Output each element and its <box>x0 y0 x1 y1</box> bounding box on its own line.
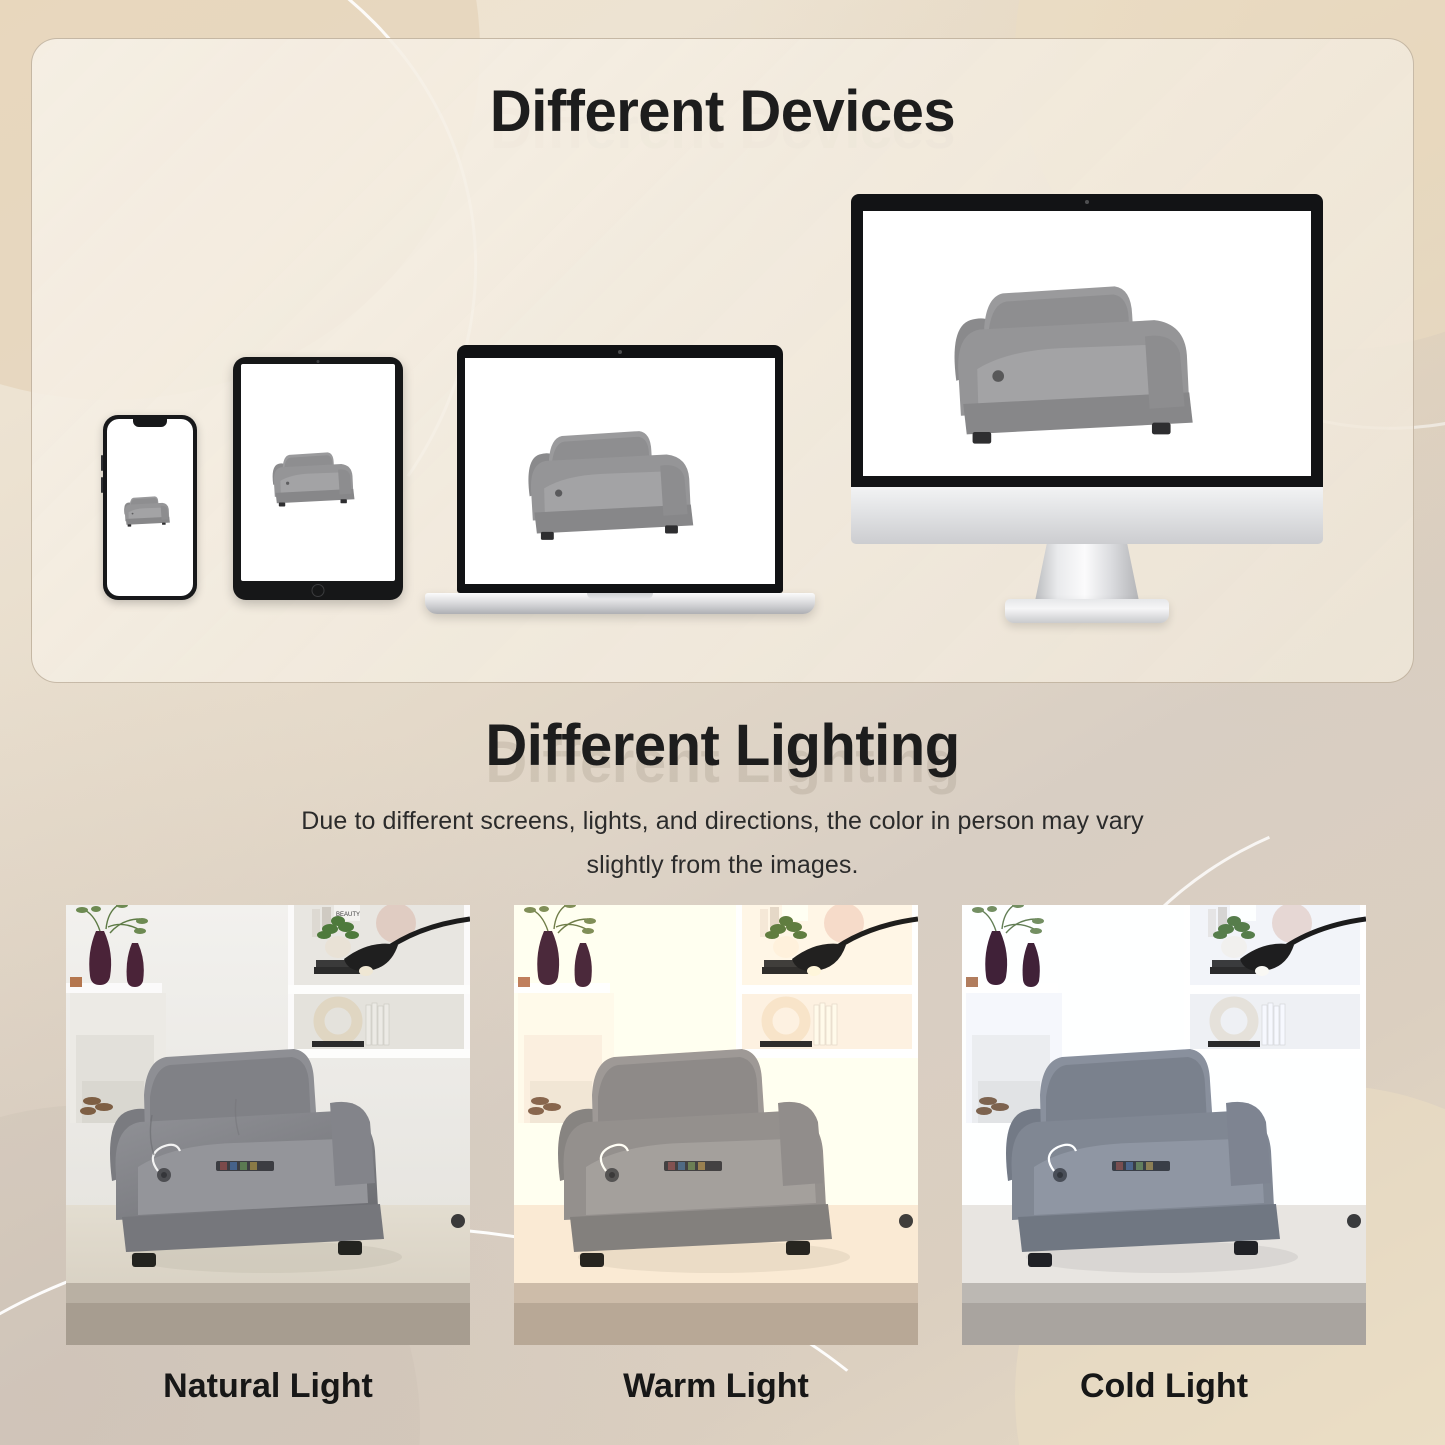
phone-notch <box>133 419 167 427</box>
disclaimer-line-1: Due to different screens, lights, and di… <box>0 800 1445 844</box>
tablet-home-button[interactable] <box>312 584 325 597</box>
lighting-samples: BEAUTY <box>66 905 1383 1345</box>
laptop-lid <box>457 345 783 593</box>
room-scene-cold <box>962 905 1366 1345</box>
caption-warm-light: Warm Light <box>514 1367 918 1406</box>
phone-volume-button <box>101 455 103 471</box>
room-scene-warm <box>514 905 918 1345</box>
laptop-screen <box>465 358 775 584</box>
room-scene-natural: BEAUTY <box>66 905 470 1345</box>
mockup-tablet <box>233 357 403 600</box>
caption-natural-light: Natural Light <box>66 1367 470 1406</box>
tablet-product-image <box>241 364 395 581</box>
tablet-camera-icon <box>317 360 320 363</box>
phone-volume-button-2 <box>101 477 103 493</box>
tablet-screen <box>241 364 395 581</box>
lighting-heading: Different Lighting Different Lighting <box>0 712 1445 779</box>
phone-product-image <box>107 419 193 596</box>
laptop-product-image <box>465 358 775 584</box>
disclaimer-line-2: slightly from the images. <box>0 844 1445 888</box>
monitor-stand-neck <box>1034 544 1140 606</box>
laptop-base <box>425 593 815 614</box>
laptop-trackpad-notch <box>587 593 653 599</box>
monitor-stand-base <box>1005 599 1169 623</box>
phone-screen <box>107 419 193 596</box>
monitor-product-image <box>863 211 1311 476</box>
mockup-monitor <box>851 194 1323 638</box>
lighting-sample-cold <box>962 905 1366 1345</box>
caption-cold-light: Cold Light <box>962 1367 1366 1406</box>
monitor-bezel <box>851 194 1323 487</box>
mockup-phone <box>103 415 197 600</box>
laptop-camera-icon <box>618 350 622 354</box>
monitor-chin <box>851 487 1323 544</box>
device-mockups-stage <box>31 38 1414 683</box>
monitor-screen <box>863 211 1311 476</box>
lighting-disclaimer: Due to different screens, lights, and di… <box>0 800 1445 888</box>
lighting-sample-natural: BEAUTY <box>66 905 470 1345</box>
monitor-camera-icon <box>1085 200 1089 204</box>
lighting-sample-warm <box>514 905 918 1345</box>
lighting-heading-text: Different Lighting <box>485 713 959 778</box>
mockup-laptop <box>425 345 815 641</box>
